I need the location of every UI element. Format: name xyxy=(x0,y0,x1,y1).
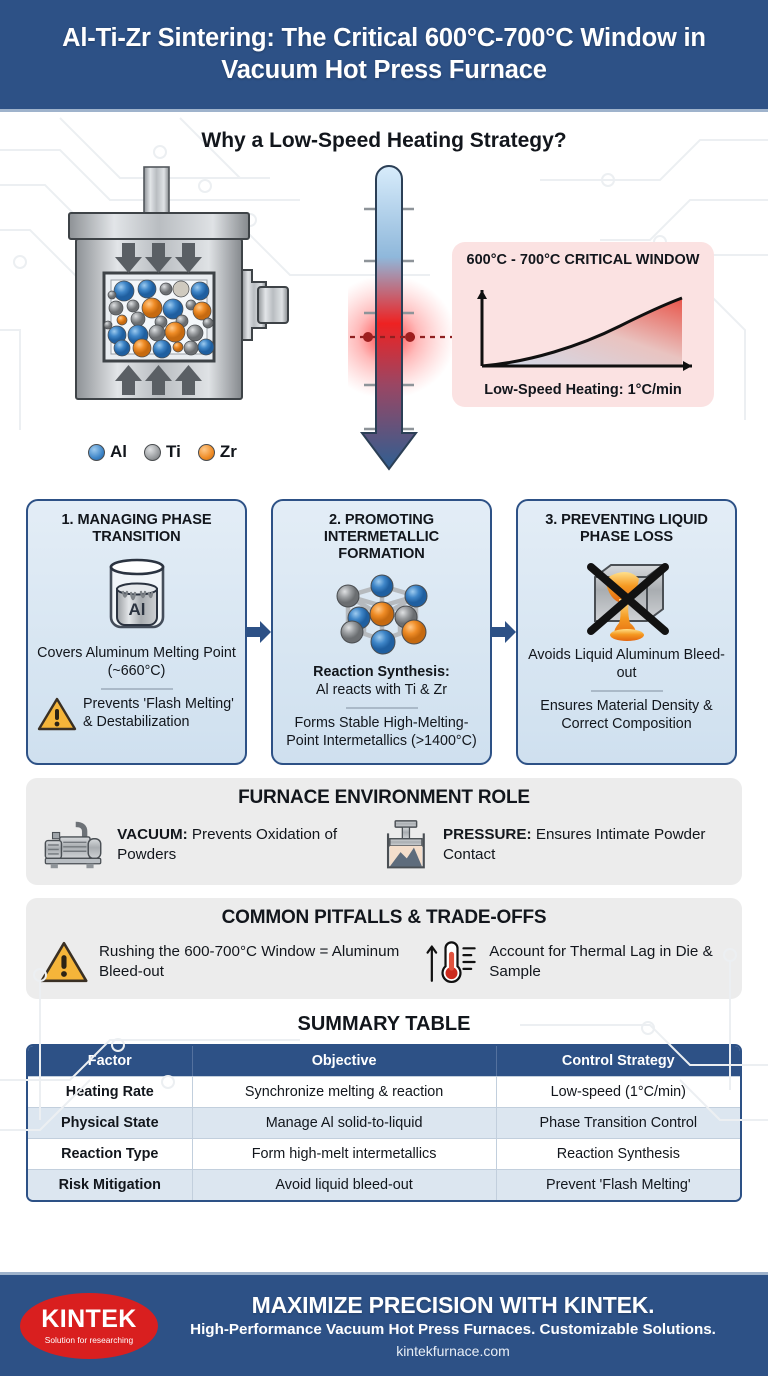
orange-sphere-icon xyxy=(198,444,215,461)
card-sub-text: Ensures Material Density & Correct Compo… xyxy=(527,698,726,734)
card-sub-text: Forms Stable High-Melting-Point Intermet… xyxy=(282,715,481,751)
environment-item-vacuum: VACUUM: Prevents Oxidation of Powders xyxy=(40,816,370,874)
column-header-factor: Factor xyxy=(28,1046,193,1076)
footer-url[interactable]: kintekfurnace.com xyxy=(158,1343,748,1359)
cell-objective: Manage Al solid-to-liquid xyxy=(193,1107,497,1138)
cell-factor: Reaction Type xyxy=(28,1138,193,1169)
card-sub-row: Prevents 'Flash Melting' & Destabilizati… xyxy=(37,696,236,732)
card-divider xyxy=(346,707,418,709)
footer-subline: High-Performance Vacuum Hot Press Furnac… xyxy=(158,1321,748,1338)
card-lead-text-2: Al reacts with Ti & Zr xyxy=(316,682,447,700)
card-preventing-liquid-phase-loss: 3. PREVENTING LIQUID PHASE LOSS xyxy=(516,499,737,765)
summary-table: Factor Objective Control Strategy Heatin… xyxy=(26,1044,742,1202)
footer-text-block: MAXIMIZE PRECISION WITH KINTEK. High-Per… xyxy=(158,1292,768,1359)
environment-text-vacuum: VACUUM: Prevents Oxidation of Powders xyxy=(117,825,370,863)
blue-sphere-icon xyxy=(88,444,105,461)
pitfall-item-rushing: Rushing the 600-700°C Window = Aluminum … xyxy=(40,937,415,987)
summary-table-heading: SUMMARY TABLE xyxy=(0,1013,768,1036)
particle-legend: Al Ti Zr xyxy=(88,442,237,462)
infographic-page: Al-Ti-Zr Sintering: The Critical 600°C-7… xyxy=(0,0,768,1376)
common-pitfalls-band: COMMON PITFALLS & TRADE-OFFS Rushing the… xyxy=(26,898,742,999)
band-row: Rushing the 600-700°C Window = Aluminum … xyxy=(40,936,728,988)
table-row: Risk Mitigation Avoid liquid bleed-out P… xyxy=(28,1169,740,1200)
temperature-gradient-arrow-icon xyxy=(348,157,458,492)
environment-item-pressure: PRESSURE: Ensures Intimate Powder Contac… xyxy=(380,816,728,874)
cell-factor: Risk Mitigation xyxy=(28,1169,193,1200)
vacuum-hot-press-furnace-icon xyxy=(62,165,312,450)
legend-label-al: Al xyxy=(110,442,127,462)
legend-item-zr: Zr xyxy=(198,442,237,462)
warning-triangle-icon xyxy=(37,696,77,732)
crystal-lattice-icon xyxy=(326,570,438,658)
cell-control-strategy: Prevent 'Flash Melting' xyxy=(497,1169,740,1200)
band-row: VACUUM: Prevents Oxidation of Powders PR… xyxy=(40,816,728,874)
right-arrow-icon xyxy=(247,499,271,765)
legend-label-ti: Ti xyxy=(166,442,181,462)
cell-objective: Avoid liquid bleed-out xyxy=(193,1169,497,1200)
pitfall-text-thermal-lag: Account for Thermal Lag in Die & Sample xyxy=(489,942,728,980)
section-subtitle: Why a Low-Speed Heating Strategy? xyxy=(0,129,768,153)
card-promoting-intermetallic-formation: 2. PROMOTING INTERMETALLIC FORMATION xyxy=(271,499,492,765)
critical-window-chart-card: 600°C - 700°C CRITICAL WINDOW Low-Speed … xyxy=(452,242,714,407)
legend-label-zr: Zr xyxy=(220,442,237,462)
logo-tagline: Solution for researching xyxy=(45,1335,133,1345)
band-title: FURNACE ENVIRONMENT ROLE xyxy=(40,787,728,809)
hot-press-die-icon xyxy=(380,816,432,874)
card-title: 2. PROMOTING INTERMETALLIC FORMATION xyxy=(282,512,481,563)
cell-control-strategy: Reaction Synthesis xyxy=(497,1138,740,1169)
page-footer: KINTEK Solution for researching MAXIMIZE… xyxy=(0,1272,768,1376)
footer-headline: MAXIMIZE PRECISION WITH KINTEK. xyxy=(158,1292,748,1319)
environment-label-pressure: PRESSURE: xyxy=(443,826,532,843)
crossed-out-molten-leak-icon xyxy=(575,553,679,641)
card-lead-text: Covers Aluminum Melting Point (~660°C) xyxy=(37,645,236,681)
card-lead-text: Reaction Synthesis: xyxy=(313,664,450,682)
column-header-objective: Objective xyxy=(193,1046,497,1076)
cell-factor: Heating Rate xyxy=(28,1076,193,1107)
cell-objective: Synchronize melting & reaction xyxy=(193,1076,497,1107)
card-title: 1. MANAGING PHASE TRANSITION xyxy=(37,512,236,546)
page-header: Al-Ti-Zr Sintering: The Critical 600°C-7… xyxy=(0,0,768,112)
right-arrow-icon xyxy=(492,499,516,765)
environment-text-pressure: PRESSURE: Ensures Intimate Powder Contac… xyxy=(443,825,728,863)
logo-name: KINTEK xyxy=(41,1307,136,1332)
page-title: Al-Ti-Zr Sintering: The Critical 600°C-7… xyxy=(22,23,746,86)
card-divider xyxy=(591,690,663,692)
molten-aluminum-beaker-icon: Al xyxy=(89,553,185,639)
heating-curve-chart xyxy=(460,286,708,378)
card-managing-phase-transition: 1. MANAGING PHASE TRANSITION Al xyxy=(26,499,247,765)
process-cards: 1. MANAGING PHASE TRANSITION Al xyxy=(0,499,768,765)
vacuum-pump-icon xyxy=(40,816,106,874)
cell-control-strategy: Phase Transition Control xyxy=(497,1107,740,1138)
table-row: Reaction Type Form high-melt intermetall… xyxy=(28,1138,740,1169)
warning-triangle-icon xyxy=(40,937,88,987)
furnace-environment-band: FURNACE ENVIRONMENT ROLE xyxy=(26,778,742,885)
pitfall-item-thermal-lag: Account for Thermal Lag in Die & Sample xyxy=(425,936,728,988)
kintek-logo: KINTEK Solution for researching xyxy=(20,1293,158,1359)
environment-label-vacuum: VACUUM: xyxy=(117,826,188,843)
legend-item-ti: Ti xyxy=(144,442,181,462)
cell-factor: Physical State xyxy=(28,1107,193,1138)
card-divider xyxy=(101,688,173,690)
card-lead-text: Avoids Liquid Aluminum Bleed-out xyxy=(527,647,726,683)
card-sub-text: Prevents 'Flash Melting' & Destabilizati… xyxy=(83,696,236,732)
thermometer-lag-icon xyxy=(425,936,478,988)
table-row: Physical State Manage Al solid-to-liquid… xyxy=(28,1107,740,1138)
legend-item-al: Al xyxy=(88,442,127,462)
table-row: Heating Rate Synchronize melting & react… xyxy=(28,1076,740,1107)
chart-title: 600°C - 700°C CRITICAL WINDOW xyxy=(452,242,714,269)
pitfall-text-rushing: Rushing the 600-700°C Window = Aluminum … xyxy=(99,942,415,980)
card-title: 3. PREVENTING LIQUID PHASE LOSS xyxy=(527,512,726,546)
gray-sphere-icon xyxy=(144,444,161,461)
column-header-control-strategy: Control Strategy xyxy=(497,1046,740,1076)
band-title: COMMON PITFALLS & TRADE-OFFS xyxy=(40,907,728,929)
hero-diagram: Al Ti Zr xyxy=(0,157,768,497)
cell-control-strategy: Low-speed (1°C/min) xyxy=(497,1076,740,1107)
beaker-label: Al xyxy=(128,600,145,619)
table-header-row: Factor Objective Control Strategy xyxy=(28,1046,740,1076)
cell-objective: Form high-melt intermetallics xyxy=(193,1138,497,1169)
chart-caption: Low-Speed Heating: 1°C/min xyxy=(452,382,714,398)
